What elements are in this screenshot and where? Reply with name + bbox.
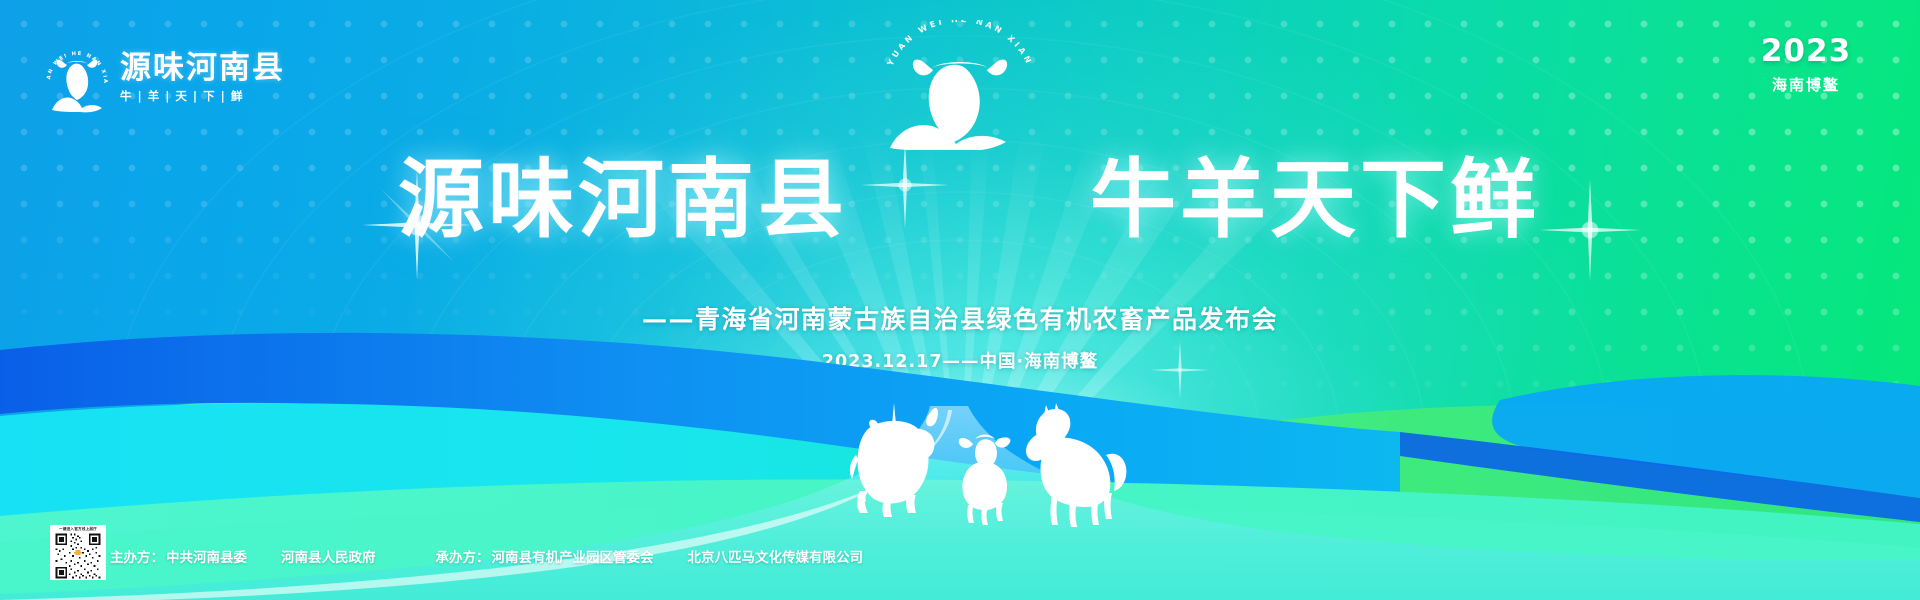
- yak-silhouette: [850, 403, 938, 517]
- logo-text-group: 源味河南县 牛 | 羊 | 天 | 下 | 鲜: [120, 48, 285, 105]
- credits-bar: 主办方： 中共河南县委 河南县人民政府 承办方： 河南县有机产业园区管委会 北京…: [110, 545, 1310, 567]
- qr-code[interactable]: [50, 532, 106, 580]
- organizer-group: 承办方： 河南县有机产业园区管委会 北京八匹马文化传媒有限公司: [436, 546, 898, 566]
- poster-stage: YUAN WEI HE NAN XIAN 源味河南县 牛 | 羊 | 天 | 下…: [0, 0, 1920, 600]
- sheep-silhouette: [959, 435, 1011, 526]
- logo-subtitle: 牛 | 羊 | 天 | 下 | 鲜: [120, 88, 285, 104]
- svg-text:YUAN WEI HE NAN XIAN: YUAN WEI HE NAN XIAN: [885, 20, 1034, 68]
- emblem-arc-text: YUAN WEI HE NAN XIAN: [885, 20, 1034, 68]
- year-label: 2023: [1736, 36, 1876, 67]
- qr-block[interactable]: 一键进入官方线上展厅: [50, 525, 106, 580]
- title-group: 源味河南县 牛羊天下鲜: [0, 148, 1920, 258]
- logo-chinese-name: 源味河南县: [120, 52, 285, 85]
- center-yak-emblem: YUAN WEI HE NAN XIAN: [870, 20, 1050, 150]
- yak-head-emblem: YUAN WEI HE NAN XIAN: [44, 38, 110, 114]
- organizer-label: 承办方：: [436, 546, 490, 566]
- host-1: 河南县人民政府: [281, 546, 376, 566]
- main-title-right: 牛羊天下鲜: [1090, 148, 1540, 252]
- venue-label: 海南博鳌: [1736, 74, 1876, 95]
- horse-silhouette: [1026, 403, 1126, 527]
- brand-logo[interactable]: YUAN WEI HE NAN XIAN 源味河南县 牛 | 羊 | 天 | 下…: [44, 36, 296, 116]
- host-0: 中共河南县委: [166, 546, 247, 566]
- organizer-0: 河南县有机产业园区管委会: [492, 546, 654, 566]
- organizer-1: 北京八匹马文化传媒有限公司: [688, 546, 864, 566]
- qr-caption: 一键进入官方线上展厅: [50, 525, 106, 532]
- animal-silhouettes: [840, 395, 1130, 530]
- host-group: 主办方： 中共河南县委 河南县人民政府: [110, 546, 410, 566]
- host-label: 主办方：: [110, 546, 164, 566]
- year-block: 2023 海南博鳌: [1736, 36, 1876, 95]
- main-title-left: 源味河南县: [398, 148, 848, 252]
